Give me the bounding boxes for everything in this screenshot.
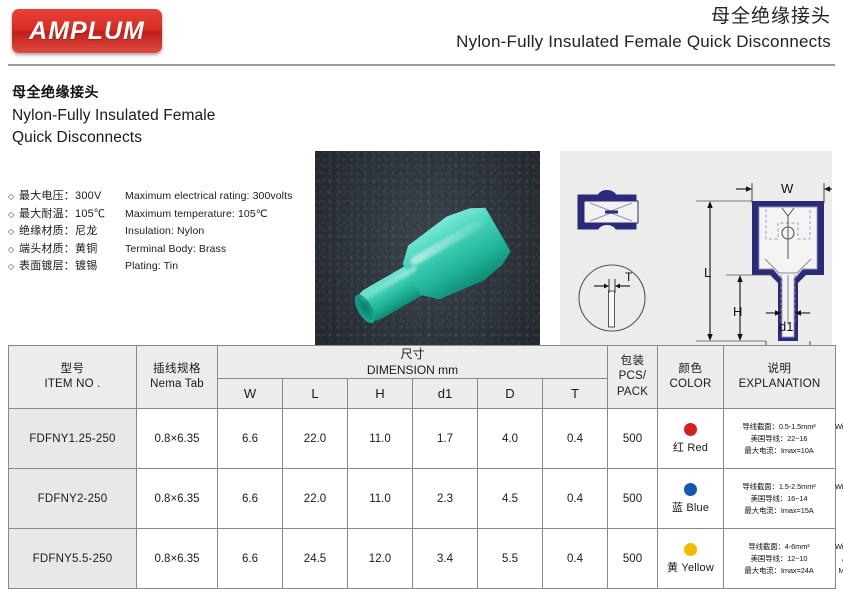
spec-key: 最大耐温：105℃ bbox=[19, 206, 125, 224]
cell-h: 11.0 bbox=[348, 409, 413, 469]
cell-d1: 2.3 bbox=[413, 469, 478, 529]
th-explanation-en: EXPLANATION bbox=[724, 377, 835, 393]
cell-d: 5.5 bbox=[478, 529, 543, 589]
diamond-bullet-icon: ◇ bbox=[8, 206, 19, 224]
cell-pack: 500 bbox=[608, 469, 658, 529]
table-row: FDFNY5.5-250 0.8×6.35 6.6 24.5 12.0 3.4 … bbox=[9, 529, 836, 589]
spec-row: ◇ 端头材质：黄铜 Terminal Body: Brass bbox=[8, 241, 308, 259]
spec-row: ◇ 表面镀层：镀锡 Plating: Tin bbox=[8, 258, 308, 276]
specifications-table-wrapper: 型号 ITEM NO . 插线规格 Nema Tab 尺寸 DIMENSION … bbox=[8, 345, 835, 589]
cell-item-no: FDFNY1.25-250 bbox=[9, 409, 137, 469]
expl-en: A.W.G.:(16-14) bbox=[835, 493, 843, 504]
th-dim-l: L bbox=[283, 379, 348, 409]
th-explanation-cn: 说明 bbox=[724, 362, 835, 378]
th-pack-en-1: PCS/ bbox=[608, 369, 657, 385]
cell-h: 12.0 bbox=[348, 529, 413, 589]
th-dimension-en: DIMENSION mm bbox=[218, 362, 607, 378]
dimension-h: H bbox=[726, 275, 772, 341]
cell-d: 4.5 bbox=[478, 469, 543, 529]
cell-explanation: 导线截面：0.5-1.5mm² Wire range:0.5-1.5mm² 美国… bbox=[724, 409, 836, 469]
table-header: 型号 ITEM NO . 插线规格 Nema Tab 尺寸 DIMENSION … bbox=[9, 346, 836, 409]
cell-color: 黄 Yellow bbox=[658, 529, 724, 589]
th-item-no-cn: 型号 bbox=[9, 362, 136, 378]
explanation-grid: 导线截面：4-6mm² Wire range:4-6mm² 美国导线：12~10… bbox=[729, 541, 830, 576]
cell-nema: 0.8×6.35 bbox=[137, 529, 218, 589]
cell-item-no: FDFNY5.5-250 bbox=[9, 529, 137, 589]
color-label: 红 Red bbox=[658, 439, 723, 455]
th-explanation: 说明 EXPLANATION bbox=[724, 346, 836, 409]
color-label: 蓝 Blue bbox=[658, 499, 723, 515]
datasheet-page: AMPLUM 母全绝缘接头 Nylon-Fully Insulated Fema… bbox=[0, 0, 843, 604]
color-dot-icon bbox=[684, 543, 697, 556]
spec-value: Maximum electrical rating: 300volts bbox=[125, 188, 292, 206]
th-dimension-group: 尺寸 DIMENSION mm bbox=[218, 346, 608, 379]
th-pack-en-2: PACK bbox=[608, 385, 657, 401]
spec-heading-en-line2: Quick Disconnects bbox=[12, 127, 302, 149]
expl-cn: 最大电流：Imax=15A bbox=[729, 505, 829, 516]
spec-value: Plating: Tin bbox=[125, 258, 178, 276]
th-item-no: 型号 ITEM NO . bbox=[9, 346, 137, 409]
dimension-w: W bbox=[736, 181, 832, 203]
label-d1: d1 bbox=[779, 319, 793, 334]
header-titles: 母全绝缘接头 Nylon-Fully Insulated Female Quic… bbox=[456, 5, 831, 53]
page-header: AMPLUM 母全绝缘接头 Nylon-Fully Insulated Fema… bbox=[0, 0, 843, 66]
thickness-detail-diagram: T bbox=[579, 265, 645, 331]
cell-d1: 1.7 bbox=[413, 409, 478, 469]
expl-en: Max.current=15A bbox=[835, 505, 843, 516]
th-pack-cn: 包装 bbox=[608, 354, 657, 370]
spec-list: ◇ 最大电压：300V Maximum electrical rating: 3… bbox=[8, 188, 308, 276]
label-h: H bbox=[733, 304, 742, 319]
label-w: W bbox=[781, 181, 794, 196]
color-label: 黄 Yellow bbox=[658, 559, 723, 575]
cell-w: 6.6 bbox=[218, 469, 283, 529]
header-title-en: Nylon-Fully Insulated Female Quick Disco… bbox=[456, 30, 831, 54]
table-row: FDFNY2-250 0.8×6.35 6.6 22.0 11.0 2.3 4.… bbox=[9, 469, 836, 529]
th-nema-en: Nema Tab bbox=[137, 377, 217, 393]
th-nema-cn: 插线规格 bbox=[137, 362, 217, 378]
spec-value: Maximum temperature: 105℃ bbox=[125, 206, 268, 224]
diamond-bullet-icon: ◇ bbox=[8, 188, 19, 206]
expl-en: A.W.G.:(22-16) bbox=[835, 433, 843, 444]
cell-color: 红 Red bbox=[658, 409, 724, 469]
th-nema-tab: 插线规格 Nema Tab bbox=[137, 346, 218, 409]
spec-value: Terminal Body: Brass bbox=[125, 241, 226, 259]
th-color-en: COLOR bbox=[658, 377, 723, 393]
content-area: 母全绝缘接头 Nylon-Fully Insulated Female Quic… bbox=[0, 66, 843, 338]
expl-cn: 最大电流：Imax=10A bbox=[729, 445, 829, 456]
cell-nema: 0.8×6.35 bbox=[137, 469, 218, 529]
cell-w: 6.6 bbox=[218, 409, 283, 469]
cell-explanation: 导线截面：4-6mm² Wire range:4-6mm² 美国导线：12~10… bbox=[724, 529, 836, 589]
diamond-bullet-icon: ◇ bbox=[8, 258, 19, 276]
cell-l: 22.0 bbox=[283, 409, 348, 469]
cell-nema: 0.8×6.35 bbox=[137, 409, 218, 469]
cell-h: 11.0 bbox=[348, 469, 413, 529]
cell-l: 24.5 bbox=[283, 529, 348, 589]
brand-logo-text: AMPLUM bbox=[29, 17, 145, 46]
th-dim-d: D bbox=[478, 379, 543, 409]
spec-key: 端头材质：黄铜 bbox=[19, 241, 125, 259]
spec-heading-block: 母全绝缘接头 Nylon-Fully Insulated Female Quic… bbox=[12, 82, 302, 149]
cell-w: 6.6 bbox=[218, 529, 283, 589]
th-item-no-en: ITEM NO . bbox=[9, 377, 136, 393]
cell-color: 蓝 Blue bbox=[658, 469, 724, 529]
th-color-cn: 颜色 bbox=[658, 362, 723, 378]
cell-d1: 3.4 bbox=[413, 529, 478, 589]
th-dim-t: T bbox=[543, 379, 608, 409]
expl-en: Max.current=10A bbox=[835, 445, 843, 456]
brand-logo: AMPLUM bbox=[12, 9, 162, 53]
cell-pack: 500 bbox=[608, 409, 658, 469]
spec-row: ◇ 最大电压：300V Maximum electrical rating: 3… bbox=[8, 188, 308, 206]
expl-cn: 美国导线：22~16 bbox=[729, 433, 829, 444]
cell-pack: 500 bbox=[608, 529, 658, 589]
expl-en: A.W.G.:(12-10) bbox=[835, 553, 843, 564]
diamond-bullet-icon: ◇ bbox=[8, 241, 19, 259]
expl-en: Wire range:0.5-1.5mm² bbox=[835, 421, 843, 432]
expl-cn: 美国导线：16~14 bbox=[729, 493, 829, 504]
cell-d: 4.0 bbox=[478, 409, 543, 469]
spec-key: 表面镀层：镀锡 bbox=[19, 258, 125, 276]
expl-en: Max.current=24A bbox=[835, 565, 843, 576]
expl-cn: 导线截面：0.5-1.5mm² bbox=[729, 421, 829, 432]
specifications-table: 型号 ITEM NO . 插线规格 Nema Tab 尺寸 DIMENSION … bbox=[8, 345, 836, 589]
explanation-grid: 导线截面：1.5-2.5mm² Wire range:1.5-2.5mm² 美国… bbox=[729, 481, 830, 516]
expl-en: Wire range:1.5-2.5mm² bbox=[835, 481, 843, 492]
front-view-diagram bbox=[578, 190, 638, 229]
color-dot-icon bbox=[684, 483, 697, 496]
expl-cn: 最大电流：Imax=24A bbox=[729, 565, 829, 576]
spec-row: ◇ 绝缘材质：尼龙 Insulation: Nylon bbox=[8, 223, 308, 241]
header-title-cn: 母全绝缘接头 bbox=[456, 5, 831, 30]
explanation-grid: 导线截面：0.5-1.5mm² Wire range:0.5-1.5mm² 美国… bbox=[729, 421, 830, 456]
cell-l: 22.0 bbox=[283, 469, 348, 529]
cell-t: 0.4 bbox=[543, 409, 608, 469]
th-pack: 包装 PCS/ PACK bbox=[608, 346, 658, 409]
th-dim-d1: d1 bbox=[413, 379, 478, 409]
table-body: FDFNY1.25-250 0.8×6.35 6.6 22.0 11.0 1.7… bbox=[9, 409, 836, 589]
th-dim-h: H bbox=[348, 379, 413, 409]
th-dimension-cn: 尺寸 bbox=[218, 346, 607, 362]
label-t: T bbox=[625, 270, 633, 284]
expl-cn: 美国导线：12~10 bbox=[729, 553, 829, 564]
spec-heading-en-line1: Nylon-Fully Insulated Female bbox=[12, 105, 302, 127]
table-row: FDFNY1.25-250 0.8×6.35 6.6 22.0 11.0 1.7… bbox=[9, 409, 836, 469]
spec-key: 绝缘材质：尼龙 bbox=[19, 223, 125, 241]
cell-t: 0.4 bbox=[543, 469, 608, 529]
expl-en: Wire range:4-6mm² bbox=[835, 541, 843, 552]
cell-item-no: FDFNY2-250 bbox=[9, 469, 137, 529]
expl-cn: 导线截面：1.5-2.5mm² bbox=[729, 481, 829, 492]
spec-value: Insulation: Nylon bbox=[125, 223, 204, 241]
spec-heading-cn: 母全绝缘接头 bbox=[12, 82, 302, 102]
spec-key: 最大电压：300V bbox=[19, 188, 125, 206]
spec-row: ◇ 最大耐温：105℃ Maximum temperature: 105℃ bbox=[8, 206, 308, 224]
diamond-bullet-icon: ◇ bbox=[8, 223, 19, 241]
cell-explanation: 导线截面：1.5-2.5mm² Wire range:1.5-2.5mm² 美国… bbox=[724, 469, 836, 529]
th-dim-w: W bbox=[218, 379, 283, 409]
cell-t: 0.4 bbox=[543, 529, 608, 589]
color-dot-icon bbox=[684, 423, 697, 436]
expl-cn: 导线截面：4-6mm² bbox=[729, 541, 829, 552]
th-color: 颜色 COLOR bbox=[658, 346, 724, 409]
label-l: L bbox=[704, 265, 711, 280]
table-header-row-1: 型号 ITEM NO . 插线规格 Nema Tab 尺寸 DIMENSION … bbox=[9, 346, 836, 379]
